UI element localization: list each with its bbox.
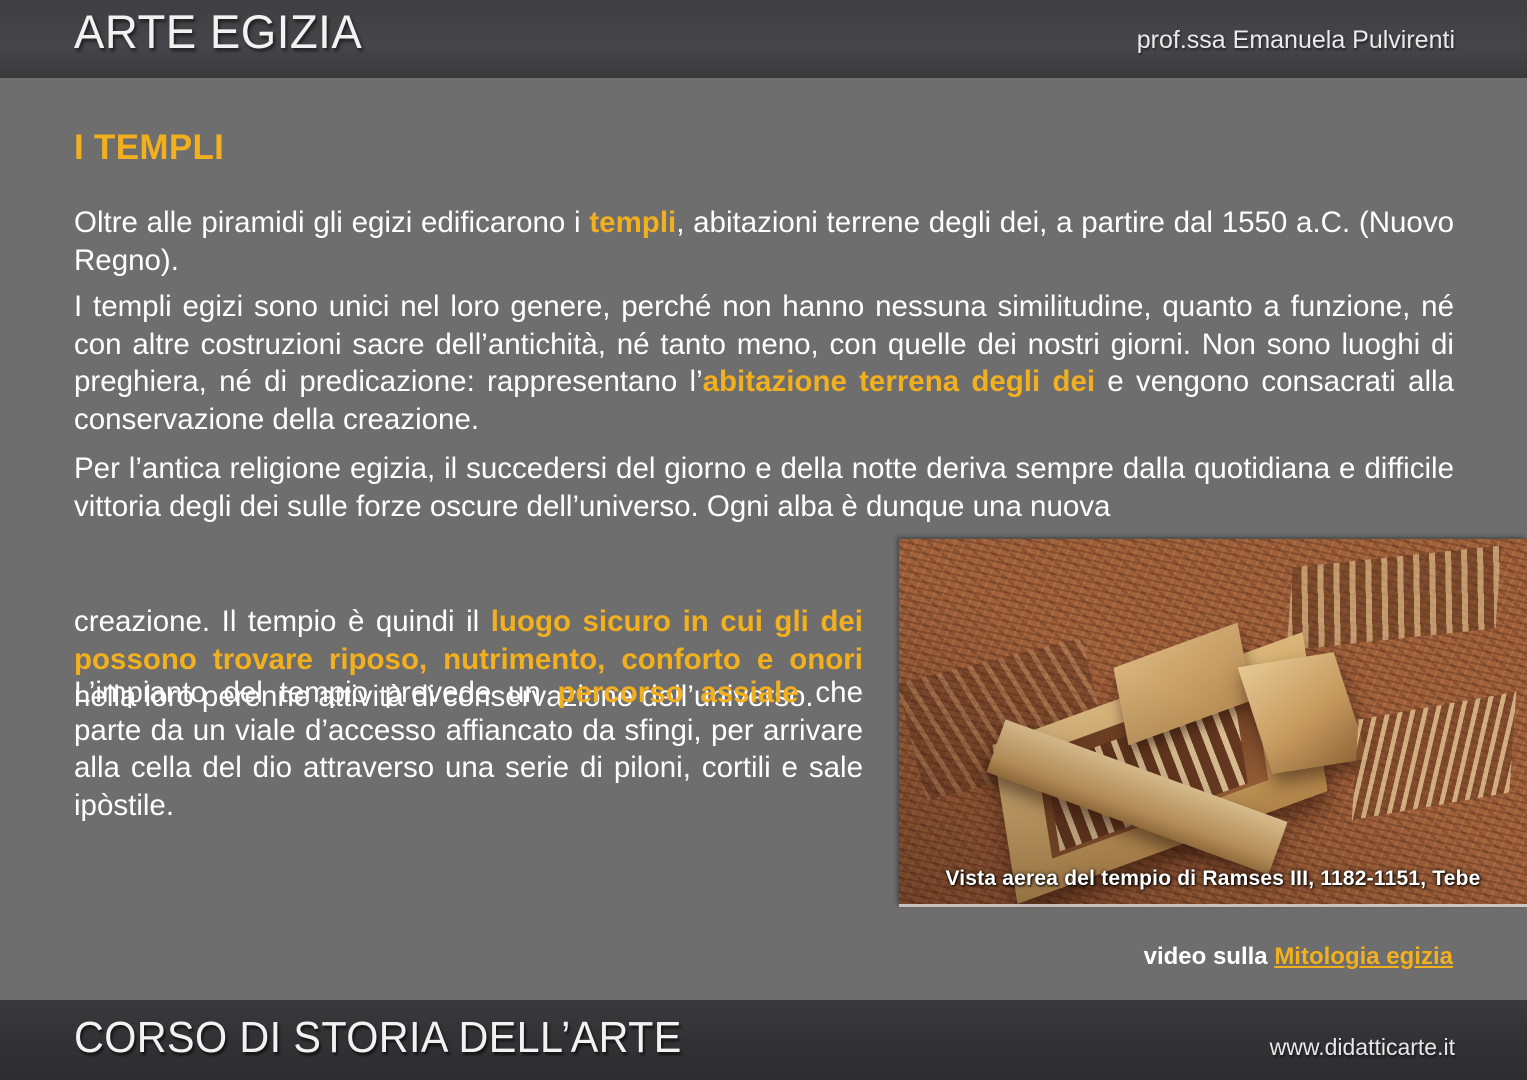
highlight-percorso-assiale: percorso assiale xyxy=(557,676,798,709)
website-url[interactable]: www.didatticarte.it xyxy=(1270,1036,1455,1059)
course-title: CORSO DI STORIA DELL’ARTE xyxy=(74,1016,682,1060)
author-byline: prof.ssa Emanuela Pulvirenti xyxy=(1137,28,1455,53)
page-footer: CORSO DI STORIA DELL’ARTE www.didatticar… xyxy=(0,1000,1527,1080)
paragraph-3-text: Per l’antica religione egizia, il succed… xyxy=(74,452,1454,523)
page-title: ARTE EGIZIA xyxy=(74,8,362,55)
paragraph-5: L’impianto del tempio prevede un percors… xyxy=(74,674,863,824)
aerial-temple-photo xyxy=(899,539,1527,907)
paragraph-1: Oltre alle piramidi gli egizi edificaron… xyxy=(74,204,1454,279)
photo-caption: Vista aerea del tempio di Ramses III, 11… xyxy=(899,867,1527,891)
highlight-abitazione-terrena: abitazione terrena degli dei xyxy=(703,365,1095,398)
paragraph-4-text-a: creazione. Il tempio è quindi il xyxy=(74,605,491,638)
highlight-templi: templi xyxy=(589,206,676,239)
paragraph-5-text-a: L’impianto del tempio prevede un xyxy=(74,676,557,709)
page-header: ARTE EGIZIA prof.ssa Emanuela Pulvirenti xyxy=(0,0,1527,78)
photo-shadow-overlay xyxy=(899,539,1527,907)
video-link-prefix: video sulla xyxy=(1144,943,1275,970)
temple-photo-container: Vista aerea del tempio di Ramses III, 11… xyxy=(899,539,1527,907)
paragraph-1-text-a: Oltre alle piramidi gli egizi edificaron… xyxy=(74,206,589,239)
video-link[interactable]: Mitologia egizia xyxy=(1274,943,1453,970)
paragraph-2: I templi egizi sono unici nel loro gener… xyxy=(74,288,1454,438)
paragraph-3: Per l’antica religione egizia, il succed… xyxy=(74,450,1454,525)
slide-content: I TEMPLI Oltre alle piramidi gli egizi e… xyxy=(0,78,1527,1000)
photo-bottom-border xyxy=(899,904,1527,907)
section-heading: I TEMPLI xyxy=(74,128,224,168)
video-link-line: video sulla Mitologia egizia xyxy=(1144,943,1453,971)
